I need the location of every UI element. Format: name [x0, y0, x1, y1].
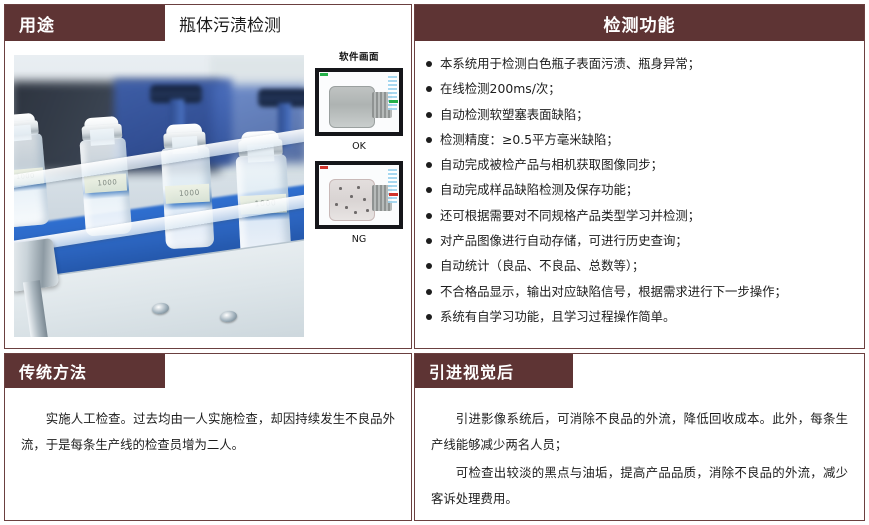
ok-bottle-body: [329, 86, 375, 128]
feature-item: 还可根据需要对不同规格产品类型学习并检测；: [425, 203, 854, 228]
software-screens-column: 软件画面 OK: [311, 49, 407, 254]
traditional-method-panel: 传统方法 实施人工检查。过去均由一人实施检查，却因持续发生不良品外流，于是每条生…: [4, 353, 412, 521]
usage-header-row: 用途 瓶体污渍检测: [5, 5, 411, 41]
after-vision-header-tag: 引进视觉后: [415, 354, 573, 388]
ng-defect-spot: [363, 198, 366, 201]
after-vision-paragraph: 引进影像系统后，可消除不良品的外流，降低回收成本。此外，每条生产线能够减少两名人…: [431, 406, 848, 458]
ng-defect-spot: [339, 187, 342, 190]
feature-item: 检测精度：≥0.5平方毫米缺陷；: [425, 127, 854, 152]
vial-label-text: 1000: [97, 178, 117, 187]
traditional-header-filler: [165, 354, 411, 388]
software-screenshot-ok-caption: OK: [311, 141, 407, 152]
ok-status-marker-right: [389, 100, 398, 103]
ng-defect-spot: [335, 203, 338, 206]
features-header-row: 检测功能: [415, 5, 864, 41]
software-screenshot-ng: [315, 161, 403, 229]
ng-defect-spot: [366, 209, 369, 212]
usage-body: 1000 1000: [5, 41, 411, 348]
ok-measure-scale: [388, 76, 397, 110]
after-vision-header-row: 引进视觉后: [415, 354, 864, 388]
ng-measure-scale: [388, 169, 397, 203]
ng-status-marker-top: [320, 166, 328, 169]
feature-item: 本系统用于检测白色瓶子表面污渍、瓶身异常；: [425, 51, 854, 76]
after-vision-header-filler: [573, 354, 864, 388]
traditional-body: 实施人工检查。过去均由一人实施检查，却因持续发生不良品外流，于是每条生产线的检查…: [5, 388, 411, 520]
feature-item: 自动完成样品缺陷检测及保存功能；: [425, 177, 854, 202]
ok-status-marker-top: [320, 73, 328, 76]
after-vision-panel: 引进视觉后 引进影像系统后，可消除不良品的外流，降低回收成本。此外，每条生产线能…: [414, 353, 865, 521]
vial-label: 1000: [84, 174, 127, 194]
feature-item: 系统有自学习功能，且学习过程操作简单。: [425, 304, 854, 329]
usage-header-tag: 用途: [5, 5, 165, 41]
features-list: 本系统用于检测白色瓶子表面污渍、瓶身异常； 在线检测200ms/次； 自动检测软…: [425, 51, 854, 329]
traditional-header-tag: 传统方法: [5, 354, 165, 388]
production-line-photo: 1000 1000: [14, 55, 304, 337]
features-body: 本系统用于检测白色瓶子表面污渍、瓶身异常； 在线检测200ms/次； 自动检测软…: [415, 41, 864, 348]
photo-vial: 1000: [160, 123, 215, 249]
poster-page: 用途 瓶体污渍检测: [0, 0, 869, 525]
ng-bottle-body: [329, 179, 375, 221]
features-panel: 检测功能 本系统用于检测白色瓶子表面污渍、瓶身异常； 在线检测200ms/次； …: [414, 4, 865, 349]
feature-item: 自动检测软塑塞表面缺陷；: [425, 102, 854, 127]
ng-defect-spot: [345, 206, 348, 209]
feature-item: 不合格品显示，输出对应缺陷信号，根据需求进行下一步操作；: [425, 279, 854, 304]
traditional-paragraph: 实施人工检查。过去均由一人实施检查，却因持续发生不良品外流，于是每条生产线的检查…: [21, 406, 395, 458]
software-screens-title: 软件画面: [311, 49, 407, 63]
after-vision-body: 引进影像系统后，可消除不良品的外流，降低回收成本。此外，每条生产线能够减少两名人…: [415, 388, 864, 520]
feature-item: 在线检测200ms/次；: [425, 76, 854, 101]
usage-panel: 用途 瓶体污渍检测: [4, 4, 412, 349]
after-vision-paragraph: 可检查出较淡的黑点与油垢，提高产品品质，消除不良品的外流，减少客诉处理费用。: [431, 460, 848, 512]
software-screenshot-ok: [315, 68, 403, 136]
vial-label-text: 1000: [179, 188, 200, 197]
ng-defect-spot: [354, 211, 357, 214]
ng-status-marker-right: [389, 193, 398, 196]
vial-label: 1000: [165, 184, 210, 204]
ok-screen-canvas: [319, 72, 399, 132]
ng-defect-spot: [357, 186, 360, 189]
software-screenshot-ng-caption: NG: [311, 234, 407, 245]
usage-subtitle: 瓶体污渍检测: [165, 5, 411, 41]
ng-screen-canvas: [319, 165, 399, 225]
feature-item: 自动统计（良品、不良品、总数等）；: [425, 253, 854, 278]
ng-defect-spot: [350, 195, 353, 198]
feature-item: 对产品图像进行自动存储，可进行历史查询；: [425, 228, 854, 253]
feature-item: 自动完成被检产品与相机获取图像同步；: [425, 152, 854, 177]
traditional-header-row: 传统方法: [5, 354, 411, 388]
features-header-tag: 检测功能: [415, 5, 864, 41]
